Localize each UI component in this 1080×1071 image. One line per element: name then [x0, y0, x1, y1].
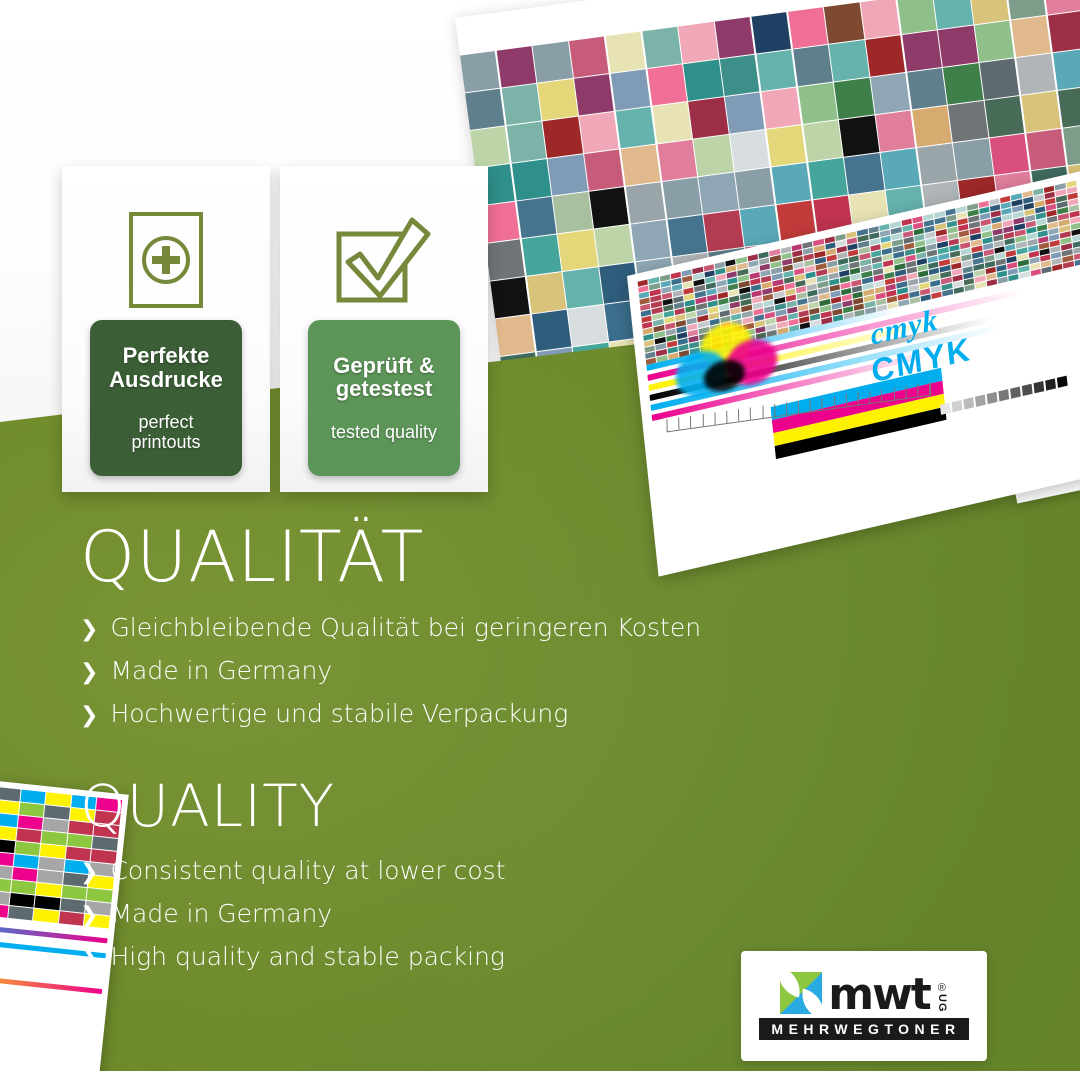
color-swatch: [907, 68, 947, 109]
mini-swatch: [0, 839, 15, 854]
color-swatch: [511, 159, 551, 200]
gray-step: [963, 397, 974, 409]
color-swatch: [522, 234, 562, 275]
color-swatch: [715, 17, 755, 58]
card-title-en-line1: tested quality: [331, 422, 437, 442]
color-swatch: [735, 168, 775, 209]
list-item: ❯ Gleichbleibende Qualität bei geringere…: [80, 606, 701, 649]
color-swatch: [881, 148, 921, 189]
card-title-en: tested quality: [331, 423, 437, 442]
ruler-tick: [894, 386, 906, 400]
feature-card-tested-quality: Geprüft & getestest tested quality: [280, 166, 488, 492]
color-swatch: [465, 89, 505, 130]
color-swatch: [876, 111, 916, 152]
color-swatch: [647, 64, 687, 105]
color-swatch: [834, 78, 874, 119]
feature-card-group: Perfekte Ausdrucke perfect printouts Gep…: [62, 166, 488, 492]
color-swatch: [912, 106, 952, 147]
mini-swatch: [8, 906, 34, 921]
ruler-tick: [918, 382, 930, 396]
ruler-tick: [715, 411, 727, 425]
color-swatch: [866, 35, 906, 76]
document-plus-icon: [127, 200, 205, 320]
color-swatch: [501, 84, 541, 125]
mini-swatch: [0, 826, 16, 841]
ruler-tick: [751, 406, 763, 420]
card-title-en-line2: printouts: [131, 432, 200, 452]
color-swatch: [938, 26, 978, 67]
color-swatch: [594, 225, 634, 266]
color-swatch: [970, 0, 1010, 24]
card-title-de-line2: getestest: [336, 376, 433, 401]
mini-swatch: [17, 815, 43, 830]
mini-swatch: [0, 852, 14, 867]
color-swatch: [798, 83, 838, 124]
gray-step: [987, 392, 998, 404]
color-swatch: [616, 107, 656, 148]
mwt-leaf-square-icon: [780, 972, 822, 1014]
color-swatch: [824, 2, 864, 43]
mini-swatch: [37, 870, 63, 885]
mini-swatch: [36, 883, 62, 898]
chevron-right-icon: ❯: [80, 854, 98, 892]
gray-step: [1022, 384, 1033, 396]
color-swatch: [553, 192, 593, 233]
list-item: ❯ Made in Germany: [80, 892, 506, 935]
color-swatch: [485, 239, 525, 280]
mini-swatch: [43, 818, 69, 833]
color-swatch: [506, 121, 546, 162]
color-swatch: [495, 315, 535, 356]
mini-swatch: [39, 857, 65, 872]
color-swatch: [689, 97, 729, 138]
registered-trademark-icon: ®: [938, 982, 946, 994]
chevron-right-icon: ❯: [80, 654, 98, 692]
color-swatch: [829, 40, 869, 81]
card-title-de: Perfekte Ausdrucke: [109, 344, 223, 392]
mini-swatch: [15, 841, 41, 856]
logo-wordmark: mwt: [828, 976, 930, 1014]
color-swatch: [751, 12, 791, 53]
color-swatch: [803, 120, 843, 161]
bullet-text: Gleichbleibende Qualität bei geringeren …: [110, 606, 701, 649]
mini-swatch: [44, 805, 70, 820]
color-swatch: [699, 173, 739, 214]
color-swatch: [980, 58, 1020, 99]
color-swatch: [917, 143, 957, 184]
color-swatch: [517, 197, 557, 238]
color-swatch: [756, 50, 796, 91]
color-swatch: [1053, 49, 1080, 90]
brand-logo: mwt ® UG MEHRWEGTONER: [741, 951, 987, 1061]
color-swatch: [1058, 86, 1080, 127]
mini-swatch: [0, 800, 19, 815]
gray-step: [1033, 381, 1044, 393]
headline-english: QUALITY: [80, 777, 506, 835]
color-swatch: [606, 32, 646, 73]
color-swatch: [574, 74, 614, 115]
gray-step: [975, 395, 986, 407]
card-title-en: perfect printouts: [131, 413, 200, 452]
color-swatch: [527, 272, 567, 313]
logo-suffix-group: ® UG: [936, 982, 948, 1013]
bullet-text: Consistent quality at lower cost: [110, 849, 505, 892]
chevron-right-icon: ❯: [80, 611, 98, 649]
mini-swatch: [41, 831, 67, 846]
color-swatch: [933, 0, 973, 29]
mini-swatch: [13, 854, 39, 869]
color-swatch: [953, 139, 993, 180]
color-swatch: [662, 177, 702, 218]
card-title-de-line1: Perfekte: [123, 343, 210, 368]
ruler-tick: [882, 387, 894, 401]
color-swatch: [683, 60, 723, 101]
color-swatch: [1021, 91, 1061, 132]
mini-swatch: [0, 813, 18, 828]
ruler-tick: [811, 397, 823, 411]
ruler-tick: [835, 394, 847, 408]
color-swatch: [563, 267, 603, 308]
color-swatch: [626, 182, 666, 223]
color-swatch: [1048, 11, 1080, 52]
mini-swatch: [35, 896, 61, 911]
card-title-de: Geprüft & getestest: [333, 354, 434, 402]
gray-step: [1057, 376, 1068, 388]
card-title-de-line1: Geprüft &: [333, 353, 434, 378]
print-swatch: [1074, 259, 1080, 266]
color-swatch: [844, 153, 884, 194]
bullet-text: Made in Germany: [110, 892, 332, 935]
mini-swatch: [0, 890, 10, 905]
color-swatch: [975, 21, 1015, 62]
ruler-tick: [906, 384, 918, 398]
color-swatch: [788, 7, 828, 48]
color-swatch: [538, 79, 578, 120]
logo-legal-suffix: UG: [936, 994, 948, 1013]
color-swatch: [490, 277, 530, 318]
gray-step: [952, 400, 963, 412]
chevron-right-icon: ❯: [80, 897, 98, 935]
mini-swatch: [0, 877, 11, 892]
color-swatch: [667, 215, 707, 256]
mini-swatch: [19, 803, 45, 818]
list-item: ❯ Made in Germany: [80, 649, 701, 692]
color-swatch: [569, 36, 609, 77]
color-swatch: [548, 154, 588, 195]
color-swatch: [1016, 53, 1056, 94]
ruler-tick: [763, 404, 775, 418]
color-swatch: [652, 102, 692, 143]
color-swatch: [730, 130, 770, 171]
list-item: ❯ Consistent quality at lower cost: [80, 849, 506, 892]
color-swatch: [771, 163, 811, 204]
list-item: ❯ Hochwertige und stabile Verpackung: [80, 692, 701, 735]
bullet-text: Made in Germany: [110, 649, 332, 692]
ruler-tick: [739, 407, 751, 421]
ruler-tick: [799, 399, 811, 413]
color-swatch: [694, 135, 734, 176]
mini-swatch: [20, 790, 46, 805]
color-swatch: [579, 112, 619, 153]
logo-tagline: MEHRWEGTONER: [759, 1018, 968, 1040]
color-swatch: [897, 0, 937, 34]
color-swatch: [808, 158, 848, 199]
color-swatch: [460, 51, 500, 92]
color-swatch: [533, 41, 573, 82]
color-swatch: [793, 45, 833, 86]
headline-german: QUALITÄT: [80, 522, 701, 592]
gray-step: [1010, 386, 1021, 398]
leaf-shape-bottom: [798, 989, 822, 1014]
logo-top-row: mwt ® UG: [780, 972, 948, 1014]
color-swatch: [725, 92, 765, 133]
color-swatch: [943, 63, 983, 104]
color-swatch: [568, 305, 608, 346]
mini-swatch: [40, 844, 66, 859]
color-swatch: [611, 69, 651, 110]
color-swatch: [1011, 16, 1051, 57]
ruler-tick: [691, 414, 703, 428]
ruler-tick: [667, 417, 679, 431]
chevron-right-icon: ❯: [80, 697, 98, 735]
color-swatch: [584, 149, 624, 190]
card-title-en-line1: perfect: [138, 412, 193, 432]
mini-swatch: [0, 903, 8, 918]
color-swatch: [470, 126, 510, 167]
mini-swatch: [16, 828, 42, 843]
color-swatch: [766, 125, 806, 166]
color-swatch: [558, 230, 598, 271]
color-swatch: [990, 134, 1030, 175]
mini-swatch: [9, 893, 35, 908]
section-english: QUALITY ❯ Consistent quality at lower co…: [80, 777, 506, 978]
bullet-list-english: ❯ Consistent quality at lower cost ❯ Mad…: [80, 849, 506, 978]
bullet-text: High quality and stable packing: [110, 935, 504, 978]
ruler-tick: [679, 416, 691, 430]
chevron-right-icon: ❯: [80, 940, 98, 978]
color-swatch: [704, 210, 744, 251]
color-swatch: [720, 55, 760, 96]
ruler-tick: [775, 402, 787, 416]
mini-swatch: [12, 867, 38, 882]
color-swatch: [589, 187, 629, 228]
ruler-tick: [847, 392, 859, 406]
gray-step: [940, 403, 951, 415]
feature-card-perfect-printouts: Perfekte Ausdrucke perfect printouts: [62, 166, 270, 492]
color-swatch: [839, 115, 879, 156]
color-swatch: [902, 30, 942, 71]
color-swatch: [985, 96, 1025, 137]
color-swatch: [871, 73, 911, 114]
mini-swatch: [46, 792, 72, 807]
color-swatch: [761, 87, 801, 128]
list-item: ❯ High quality and stable packing: [80, 935, 506, 978]
ruler-tick: [727, 409, 739, 423]
gray-step-wedge: [940, 376, 1068, 415]
ruler-tick: [870, 389, 882, 403]
gray-step: [1045, 378, 1056, 390]
color-swatch: [657, 140, 697, 181]
checkbox-check-icon: [334, 200, 434, 320]
card-tag-perfect-printouts: Perfekte Ausdrucke perfect printouts: [90, 320, 242, 476]
mini-swatch: [11, 880, 37, 895]
mini-swatch: [0, 787, 20, 802]
card-tag-tested-quality: Geprüft & getestest tested quality: [308, 320, 460, 476]
color-swatch: [621, 145, 661, 186]
color-swatch: [496, 46, 536, 87]
bullet-text: Hochwertige und stabile Verpackung: [110, 692, 568, 735]
leaf-shape-top: [780, 972, 804, 997]
promo-banner: cmyk CMYK: [0, 0, 1080, 1071]
ruler-tick: [787, 401, 799, 415]
gray-step: [998, 389, 1009, 401]
color-swatch: [631, 220, 671, 261]
color-swatch: [1026, 129, 1066, 170]
card-title-de-line2: Ausdrucke: [109, 367, 223, 392]
color-swatch: [948, 101, 988, 142]
color-swatch: [543, 117, 583, 158]
ruler-tick: [823, 396, 835, 410]
mini-swatch: [0, 864, 12, 879]
ruler-tick: [703, 412, 715, 426]
ruler-tick: [858, 391, 870, 405]
color-swatch: [678, 22, 718, 63]
color-swatch: [740, 205, 780, 246]
color-swatch: [642, 27, 682, 68]
mini-swatch: [33, 909, 59, 924]
color-swatch: [532, 310, 572, 351]
bullet-list-german: ❯ Gleichbleibende Qualität bei geringere…: [80, 606, 701, 735]
color-swatch: [860, 0, 900, 38]
section-german: QUALITÄT ❯ Gleichbleibende Qualität bei …: [80, 522, 701, 735]
